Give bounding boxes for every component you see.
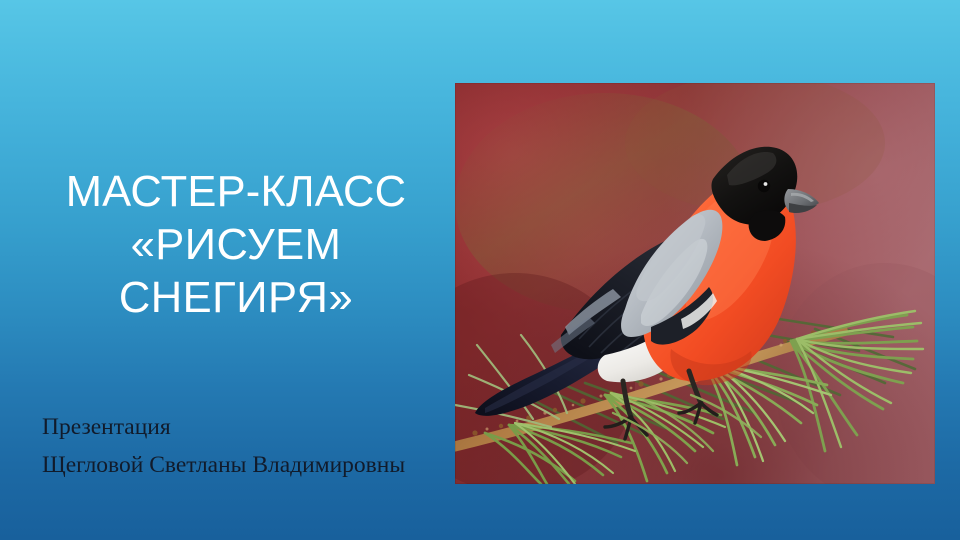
subtitle-line-2: Щегловой Светланы Владимировны bbox=[42, 446, 442, 484]
title-line-1: МАСТЕР-КЛАСС bbox=[30, 166, 442, 219]
subtitle-line-1: Презентация bbox=[42, 408, 442, 446]
slide-title: МАСТЕР-КЛАСС «РИСУЕМ СНЕГИРЯ» bbox=[30, 166, 442, 325]
title-line-3: СНЕГИРЯ» bbox=[30, 272, 442, 325]
presentation-slide: МАСТЕР-КЛАСС «РИСУЕМ СНЕГИРЯ» Презентаци… bbox=[0, 0, 960, 540]
slide-subtitle: Презентация Щегловой Светланы Владимиров… bbox=[42, 408, 442, 484]
bird-eye bbox=[758, 180, 770, 192]
bullfinch-photo bbox=[455, 83, 935, 484]
bullfinch-illustration bbox=[455, 83, 935, 484]
title-line-2: «РИСУЕМ bbox=[30, 219, 442, 272]
